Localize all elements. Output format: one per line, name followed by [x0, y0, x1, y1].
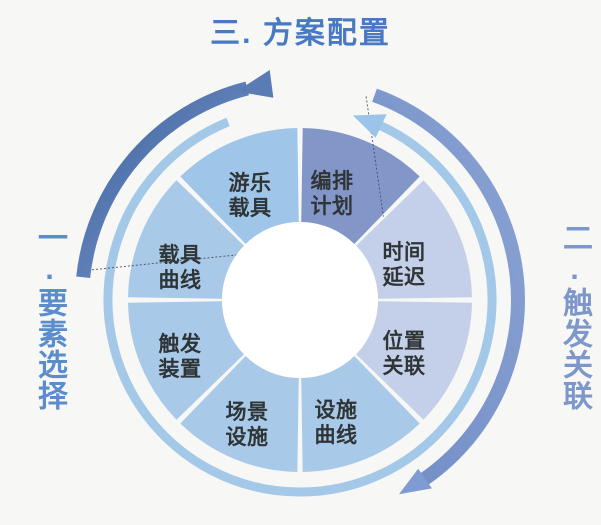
circular-process-diagram: 编排计划时间延迟位置关联设施曲线场景设施触发装置载具曲线游乐载具 [0, 0, 601, 525]
diagram-canvas: 三. 方案配置 一.要素选择 二.触发关联 [0, 0, 601, 525]
inner-hub [222, 222, 378, 378]
